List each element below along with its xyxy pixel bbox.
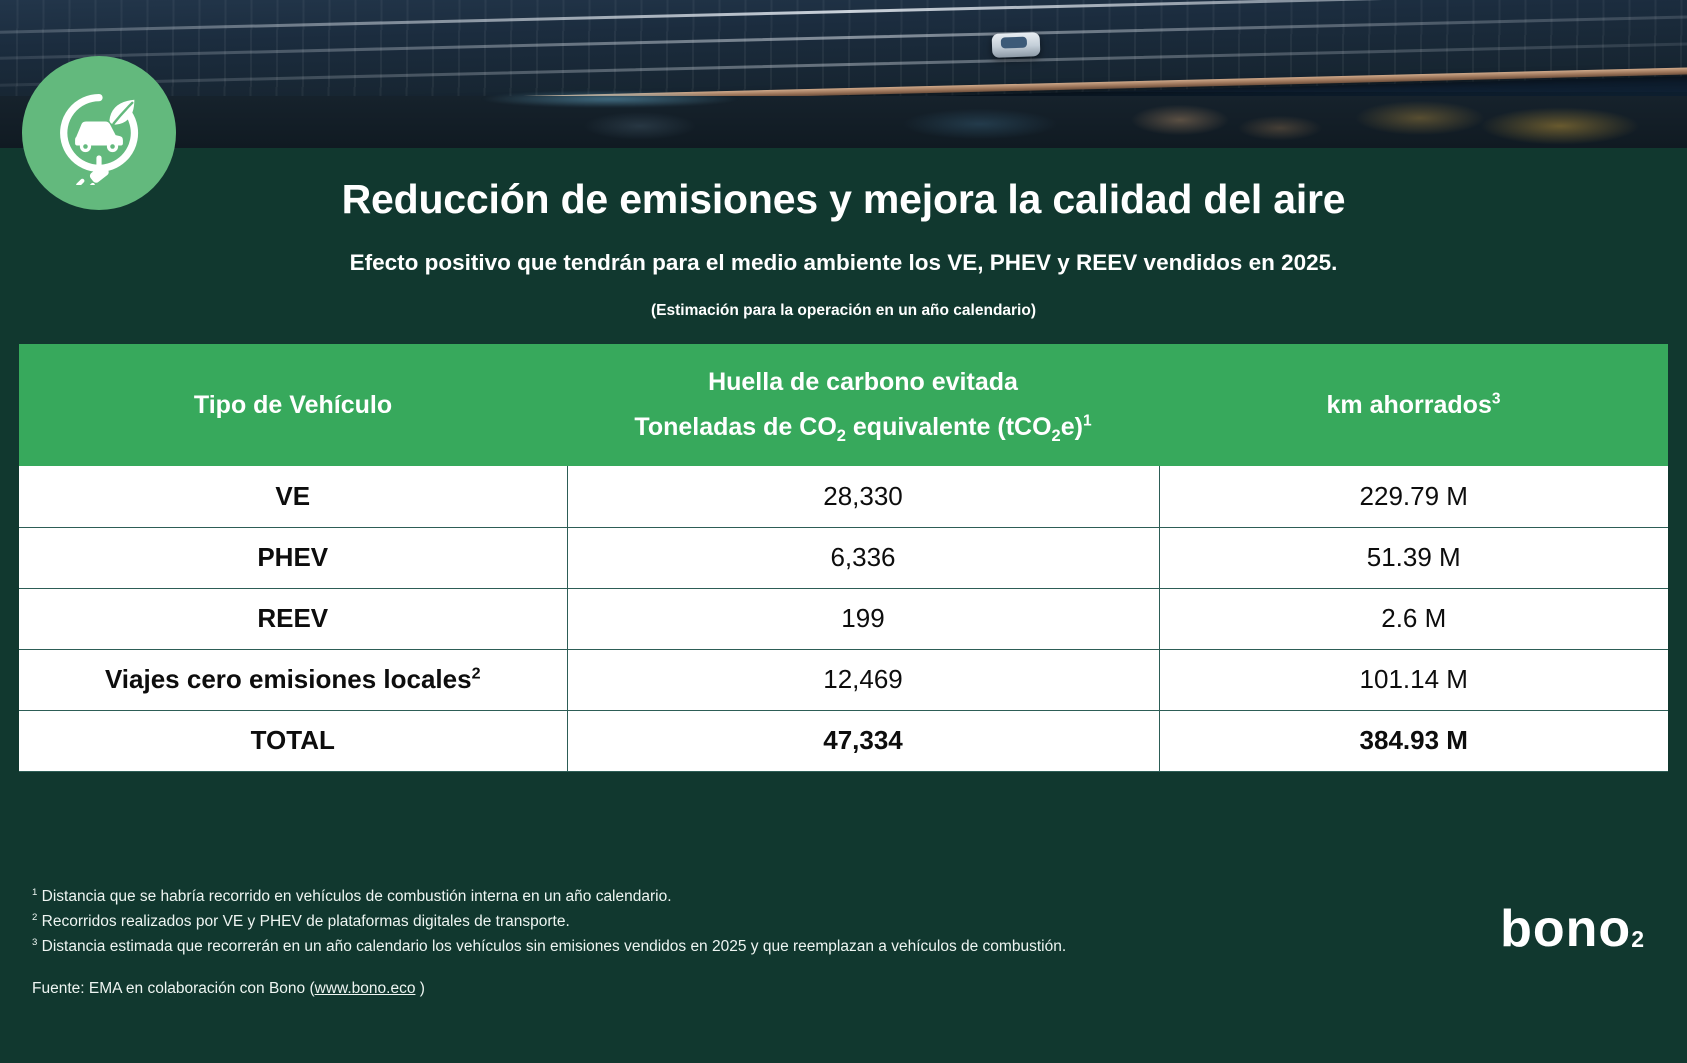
header-text-block: Reducción de emisiones y mejora la calid…	[0, 148, 1687, 321]
row-label-ve: VE	[19, 466, 567, 527]
footnote-3-marker: 3	[32, 937, 37, 948]
photo-car	[992, 32, 1041, 58]
column-header-vehicle-type: Tipo de Vehículo	[19, 344, 567, 466]
footnote-1-text: Distancia que se habría recorrido en veh…	[42, 888, 672, 905]
total-km: 384.93 M	[1159, 710, 1668, 771]
footnote-3: 3 Distancia estimada que recorrerán en u…	[32, 934, 1066, 959]
source-suffix: )	[415, 980, 424, 997]
row-label-reev: REEV	[19, 588, 567, 649]
footnote-1: 1 Distancia que se habría recorrido en v…	[32, 884, 1066, 909]
table-head: Tipo de Vehículo Huella de carbono evita…	[19, 344, 1668, 466]
total-label: TOTAL	[19, 710, 567, 771]
row-footprint-phev: 6,336	[567, 527, 1159, 588]
page-subtitle: Efecto positivo que tendrán para el medi…	[0, 249, 1687, 276]
header-photo-banner	[0, 0, 1687, 148]
footnote-2: 2 Recorridos realizados por VE y PHEV de…	[32, 909, 1066, 934]
km-saved-footnote-marker: 3	[1492, 390, 1501, 407]
column-header-km-saved: km ahorrados3	[1159, 344, 1668, 466]
table-body: VE 28,330 229.79 M PHEV 6,336 51.39 M RE…	[19, 466, 1668, 771]
row-label-footnote-marker: 2	[472, 664, 481, 682]
row-label-text: REEV	[257, 603, 328, 633]
emissions-table: Tipo de Vehículo Huella de carbono evita…	[19, 344, 1668, 772]
column-header-carbon-footprint: Huella de carbono evitada Toneladas de C…	[567, 344, 1159, 466]
row-label-text: PHEV	[257, 542, 328, 572]
row-label-text: Viajes cero emisiones locales	[105, 664, 472, 694]
row-label-phev: PHEV	[19, 527, 567, 588]
photo-sea-foam	[430, 86, 790, 112]
row-km-zero-emission-trips: 101.14 M	[1159, 649, 1668, 710]
row-footprint-zero-emission-trips: 12,469	[567, 649, 1159, 710]
row-km-reev: 2.6 M	[1159, 588, 1668, 649]
row-label-zero-emission-trips: Viajes cero emisiones locales2	[19, 649, 567, 710]
footnotes-block: 1 Distancia que se habría recorrido en v…	[32, 884, 1066, 959]
table-row: PHEV 6,336 51.39 M	[19, 527, 1668, 588]
emissions-table-container: Tipo de Vehículo Huella de carbono evita…	[19, 344, 1668, 772]
bono-subscript: 2	[1631, 928, 1645, 955]
row-km-ve: 229.79 M	[1159, 466, 1668, 527]
km-saved-label: km ahorrados	[1327, 391, 1492, 419]
table-row: REEV 199 2.6 M	[19, 588, 1668, 649]
table-row: Viajes cero emisiones locales2 12,469 10…	[19, 649, 1668, 710]
bono-wordmark: bono	[1500, 903, 1631, 955]
infographic-poster: Reducción de emisiones y mejora la calid…	[0, 0, 1687, 1063]
footprint-text-c: e)	[1061, 413, 1083, 441]
footprint-text-b: equivalente (tCO	[846, 413, 1052, 441]
row-footprint-ve: 28,330	[567, 466, 1159, 527]
row-km-phev: 51.39 M	[1159, 527, 1668, 588]
footnote-1-marker: 1	[32, 887, 37, 898]
total-footprint: 47,334	[567, 710, 1159, 771]
table-header-row: Tipo de Vehículo Huella de carbono evita…	[19, 344, 1668, 466]
source-prefix: Fuente: EMA en colaboración con Bono (	[32, 980, 315, 997]
row-label-text: VE	[275, 481, 310, 511]
source-line: Fuente: EMA en colaboración con Bono (ww…	[32, 980, 425, 998]
bono-logo: bono2	[1500, 903, 1645, 955]
carbon-footprint-line2: Toneladas de CO2 equivalente (tCO2e)1	[577, 413, 1149, 442]
footnote-2-text: Recorridos realizados por VE y PHEV de p…	[42, 913, 570, 930]
carbon-footprint-line1: Huella de carbono evitada	[708, 368, 1018, 396]
footprint-sub-b: 2	[1052, 427, 1061, 445]
row-footprint-reev: 199	[567, 588, 1159, 649]
footnote-3-text: Distancia estimada que recorrerán en un …	[42, 938, 1066, 955]
electric-car-leaf-plug-icon	[22, 56, 176, 210]
page-title: Reducción de emisiones y mejora la calid…	[0, 176, 1687, 223]
table-row: VE 28,330 229.79 M	[19, 466, 1668, 527]
column-header-vehicle-type-label: Tipo de Vehículo	[194, 391, 392, 419]
footprint-text-a: Toneladas de CO	[634, 413, 836, 441]
photo-shoreline-rocks	[0, 96, 1687, 148]
estimation-note: (Estimación para la operación en un año …	[0, 302, 1687, 321]
footprint-footnote-marker: 1	[1083, 413, 1092, 430]
table-total-row: TOTAL 47,334 384.93 M	[19, 710, 1668, 771]
footnote-2-marker: 2	[32, 912, 37, 923]
footprint-sub-a: 2	[837, 427, 846, 445]
source-link[interactable]: www.bono.eco	[315, 980, 416, 997]
